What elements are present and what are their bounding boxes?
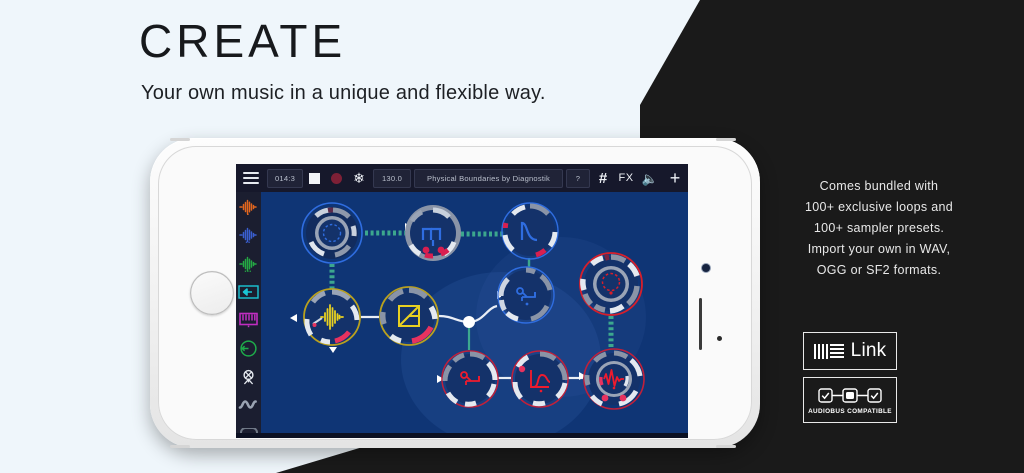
bpm-display[interactable]: 130.0 bbox=[373, 169, 411, 188]
sine-wave-icon bbox=[238, 398, 259, 411]
stop-square-icon[interactable] bbox=[303, 164, 325, 192]
copy-line: 100+ sampler presets. bbox=[766, 218, 992, 239]
audiobus-badge: AUDIOBUS COMPATIBLE bbox=[803, 377, 897, 423]
app-statusbar bbox=[236, 433, 688, 438]
help-button[interactable]: ? bbox=[566, 169, 590, 188]
antenna-line bbox=[716, 445, 736, 448]
module-output-red[interactable] bbox=[583, 348, 645, 410]
hamburger-menu-icon[interactable] bbox=[236, 164, 266, 192]
module-sample-player[interactable] bbox=[303, 288, 361, 346]
front-camera bbox=[702, 264, 710, 272]
badge-group: Link AUDIOBUS COMPATIBLE bbox=[803, 332, 897, 423]
module-envelope-shaper[interactable] bbox=[379, 286, 439, 346]
proximity-sensor bbox=[717, 336, 722, 341]
earpiece-speaker bbox=[699, 298, 702, 350]
module-square-wave[interactable] bbox=[404, 204, 462, 262]
grid-button[interactable]: # bbox=[592, 164, 614, 192]
module-filter-blue[interactable] bbox=[497, 266, 555, 324]
audiobus-icon bbox=[817, 385, 883, 405]
orange-waveform-icon bbox=[238, 199, 259, 215]
ableton-link-icon bbox=[814, 343, 844, 360]
cable-junction-node bbox=[463, 316, 475, 328]
copy-line: Comes bundled with bbox=[766, 176, 992, 197]
page-subtitle: Your own music in a unique and flexible … bbox=[141, 82, 546, 105]
sidebar-item-drum-sampler[interactable] bbox=[237, 197, 260, 217]
snowflake-icon[interactable]: ❄ bbox=[347, 164, 371, 192]
poster-stage: CREATE Your own music in a unique and fl… bbox=[0, 0, 1024, 473]
phone-bezel: 014:3 ❄ 130.0 Physical Boundaries by Dia… bbox=[158, 146, 752, 440]
sidebar-item-lead-sampler[interactable] bbox=[237, 253, 260, 273]
ableton-link-badge: Link bbox=[803, 332, 897, 370]
iphone-device: 014:3 ❄ 130.0 Physical Boundaries by Dia… bbox=[150, 138, 760, 448]
sidebar-item-metronome[interactable] bbox=[237, 366, 260, 386]
link-label: Link bbox=[851, 340, 887, 362]
import-arrow-icon bbox=[238, 285, 259, 299]
blue-waveform-icon bbox=[238, 227, 259, 243]
module-envelope-red[interactable] bbox=[511, 350, 569, 408]
page-title: CREATE bbox=[139, 18, 546, 64]
antenna-line bbox=[170, 138, 190, 141]
home-button[interactable] bbox=[190, 271, 234, 315]
cable-green bbox=[332, 233, 611, 350]
antenna-line bbox=[170, 445, 190, 448]
sidebar-item-power[interactable] bbox=[237, 338, 260, 358]
sidebar-item-bass-sampler[interactable] bbox=[237, 225, 260, 245]
add-module-button[interactable]: + bbox=[662, 164, 688, 192]
metronome-icon bbox=[239, 367, 258, 386]
fx-button[interactable]: FX bbox=[614, 164, 638, 192]
audiobus-label: AUDIOBUS COMPATIBLE bbox=[808, 408, 892, 415]
sidebar-item-lfo[interactable] bbox=[237, 395, 260, 415]
module-decay-envelope[interactable] bbox=[501, 202, 559, 260]
timecode-display[interactable]: 014:3 bbox=[267, 169, 303, 188]
module-oscillator-blue[interactable] bbox=[301, 202, 363, 264]
piano-keyboard-icon bbox=[238, 312, 259, 328]
antenna-line bbox=[716, 138, 736, 141]
marketing-copy: Comes bundled with 100+ exclusive loops … bbox=[766, 176, 992, 281]
headline-block: CREATE Your own music in a unique and fl… bbox=[139, 18, 546, 105]
sidebar-item-import[interactable] bbox=[237, 282, 260, 302]
copy-line: Import your own in WAV, bbox=[766, 239, 992, 260]
copy-line: OGG or SF2 formats. bbox=[766, 260, 992, 281]
record-circle-icon[interactable] bbox=[325, 164, 347, 192]
sidebar-item-keyboard[interactable] bbox=[237, 310, 260, 330]
green-waveform-icon bbox=[238, 256, 259, 272]
module-filter-red[interactable] bbox=[441, 350, 499, 408]
power-loop-icon bbox=[239, 339, 258, 358]
copy-line: 100+ exclusive loops and bbox=[766, 197, 992, 218]
app-screen: 014:3 ❄ 130.0 Physical Boundaries by Dia… bbox=[236, 164, 688, 438]
app-sidebar bbox=[236, 192, 261, 438]
module-canvas[interactable] bbox=[261, 192, 688, 438]
speaker-icon[interactable]: 🔈 bbox=[638, 164, 662, 192]
module-lfo-red[interactable] bbox=[579, 252, 643, 316]
app-toolbar: 014:3 ❄ 130.0 Physical Boundaries by Dia… bbox=[236, 164, 688, 192]
project-name-field[interactable]: Physical Boundaries by Diagnostik bbox=[414, 169, 563, 188]
